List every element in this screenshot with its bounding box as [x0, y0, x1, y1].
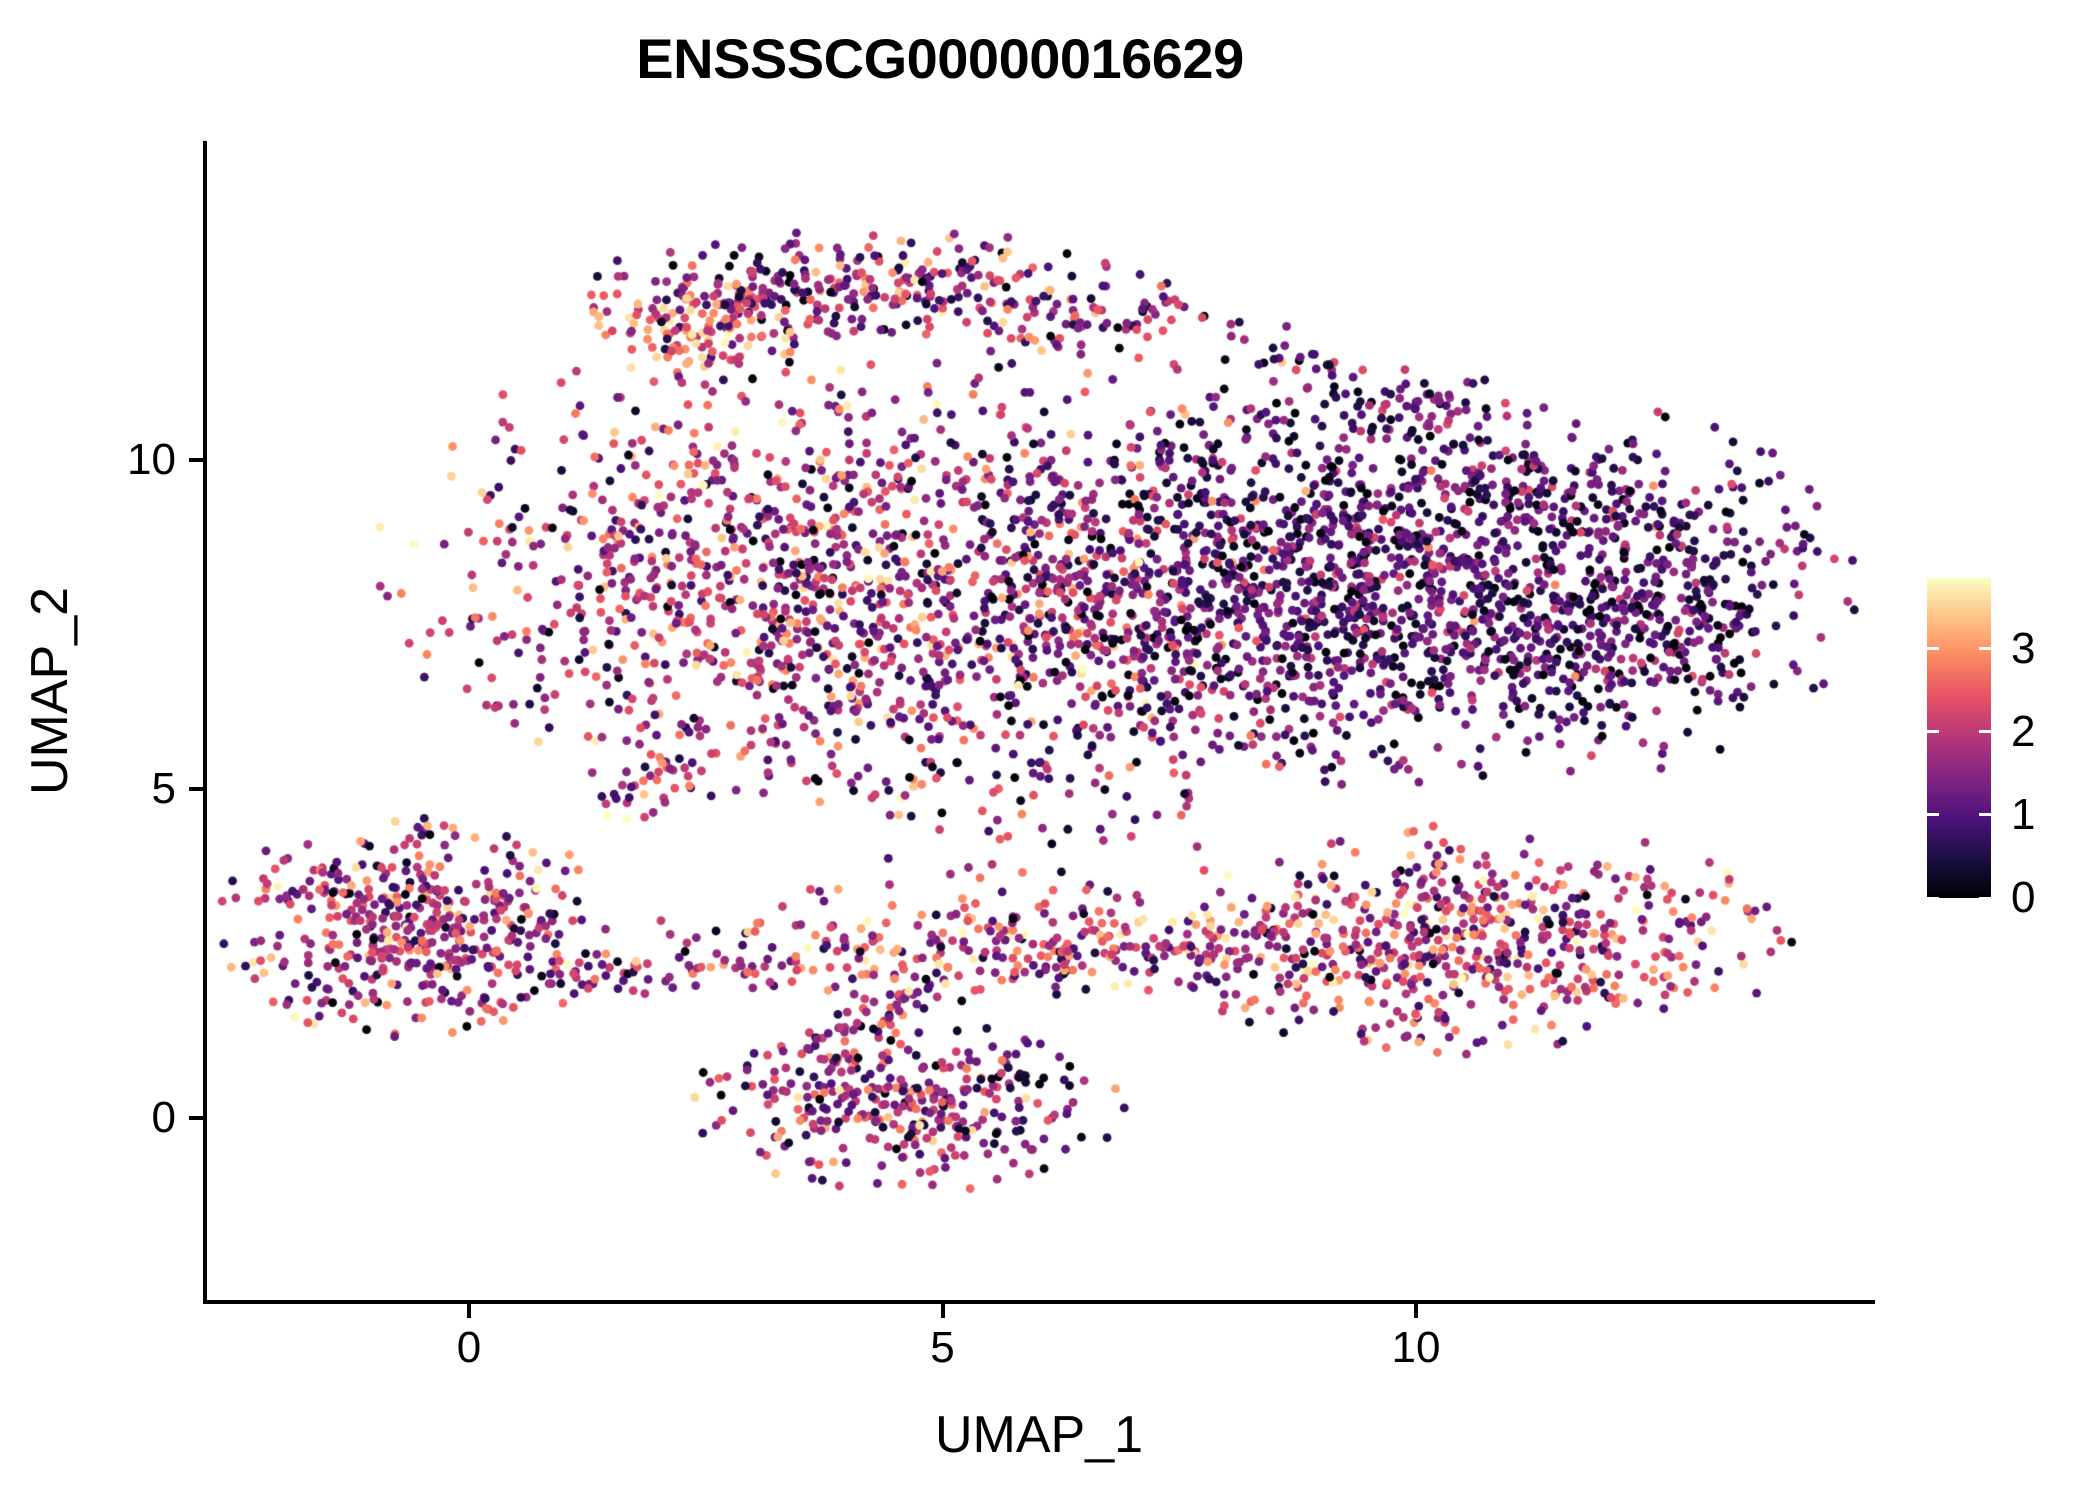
- colorbar-tick: [1927, 647, 1939, 650]
- colorbar-tick: [1979, 897, 1991, 900]
- colorbar-gradient: [1927, 578, 1991, 898]
- y-tick-label: 5: [152, 767, 176, 811]
- x-tick-mark: [467, 1304, 471, 1318]
- colorbar-tick-label: 3: [2011, 627, 2035, 671]
- x-tick-mark: [941, 1304, 945, 1318]
- colorbar-tick: [1927, 897, 1939, 900]
- page-title: ENSSSCG00000016629: [0, 26, 1880, 91]
- colorbar-tick: [1979, 813, 1991, 816]
- x-tick-label: 0: [457, 1326, 481, 1370]
- y-tick-label: 10: [127, 438, 176, 482]
- y-axis-line: [203, 141, 207, 1304]
- colorbar-tick-label: 1: [2011, 793, 2035, 837]
- colorbar-tick-label: 0: [2011, 876, 2035, 920]
- y-tick-label: 0: [152, 1096, 176, 1140]
- y-tick-mark: [189, 1116, 203, 1120]
- y-axis-title: UMAP_2: [20, 391, 80, 991]
- x-axis-line: [203, 1300, 1875, 1304]
- y-tick-mark: [189, 787, 203, 791]
- figure-root: ENSSSCG00000016629 0510 0510 UMAP_1 UMAP…: [0, 0, 2100, 1500]
- x-tick-mark: [1414, 1304, 1418, 1318]
- x-tick-label: 5: [930, 1326, 954, 1370]
- y-tick-mark: [189, 458, 203, 462]
- x-tick-label: 10: [1392, 1326, 1441, 1370]
- colorbar-legend: 0123: [1927, 578, 2087, 898]
- colorbar-tick: [1979, 647, 1991, 650]
- colorbar-tick-label: 2: [2011, 710, 2035, 754]
- colorbar-tick: [1927, 813, 1939, 816]
- colorbar-tick: [1979, 730, 1991, 733]
- colorbar-tick: [1927, 730, 1939, 733]
- x-axis-title: UMAP_1: [0, 1405, 2078, 1465]
- scatter-plot-panel: [205, 141, 1873, 1302]
- scatter-points-canvas: [205, 141, 1873, 1302]
